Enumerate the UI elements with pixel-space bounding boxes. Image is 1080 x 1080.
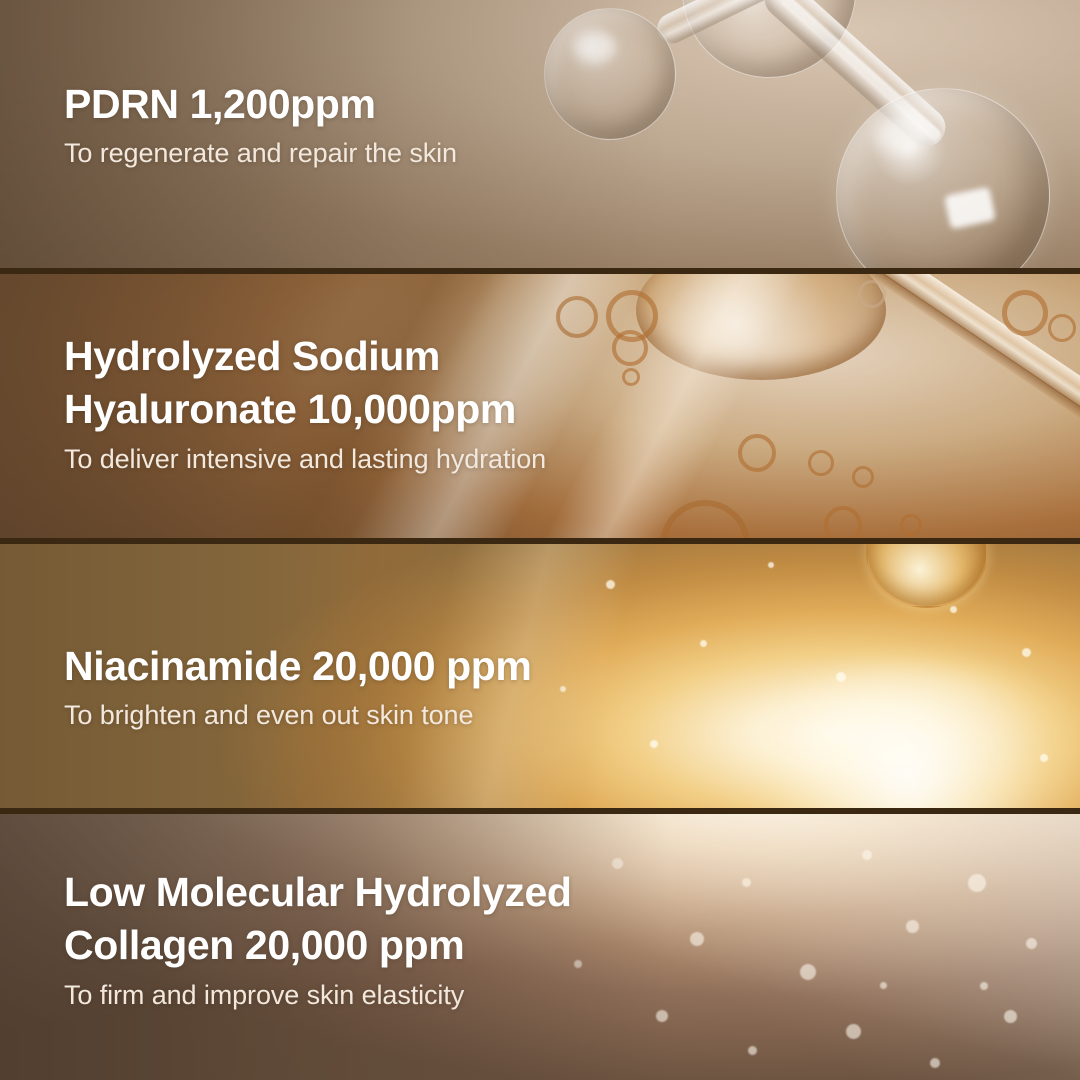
panel-subtitle: To firm and improve skin elasticity xyxy=(64,979,572,1013)
panel-copy-sodium-hyaluronate: Hydrolyzed Sodium Hyaluronate 10,000ppm … xyxy=(64,330,546,476)
panel-divider xyxy=(0,268,1080,274)
ingredient-panel-collagen: Low Molecular Hydrolyzed Collagen 20,000… xyxy=(0,814,1080,1080)
panel-title: Hydrolyzed Sodium Hyaluronate 10,000ppm xyxy=(64,330,546,437)
panel-title: Niacinamide 20,000 ppm xyxy=(64,640,531,693)
ingredient-panel-sodium-hyaluronate: Hydrolyzed Sodium Hyaluronate 10,000ppm … xyxy=(0,274,1080,538)
panel-subtitle: To deliver intensive and lasting hydrati… xyxy=(64,443,546,477)
ingredient-panel-niacinamide: Niacinamide 20,000 ppm To brighten and e… xyxy=(0,544,1080,808)
panel-copy-pdrn: PDRN 1,200ppm To regenerate and repair t… xyxy=(64,78,457,171)
panel-title: PDRN 1,200ppm xyxy=(64,78,457,131)
panel-copy-collagen: Low Molecular Hydrolyzed Collagen 20,000… xyxy=(64,866,572,1012)
ingredient-panel-pdrn: PDRN 1,200ppm To regenerate and repair t… xyxy=(0,0,1080,268)
panel-subtitle: To brighten and even out skin tone xyxy=(64,699,531,733)
panel-divider xyxy=(0,808,1080,814)
panel-divider xyxy=(0,538,1080,544)
ingredient-banner-stack: PDRN 1,200ppm To regenerate and repair t… xyxy=(0,0,1080,1080)
panel-subtitle: To regenerate and repair the skin xyxy=(64,137,457,171)
panel-title: Low Molecular Hydrolyzed Collagen 20,000… xyxy=(64,866,572,973)
panel-copy-niacinamide: Niacinamide 20,000 ppm To brighten and e… xyxy=(64,640,531,733)
